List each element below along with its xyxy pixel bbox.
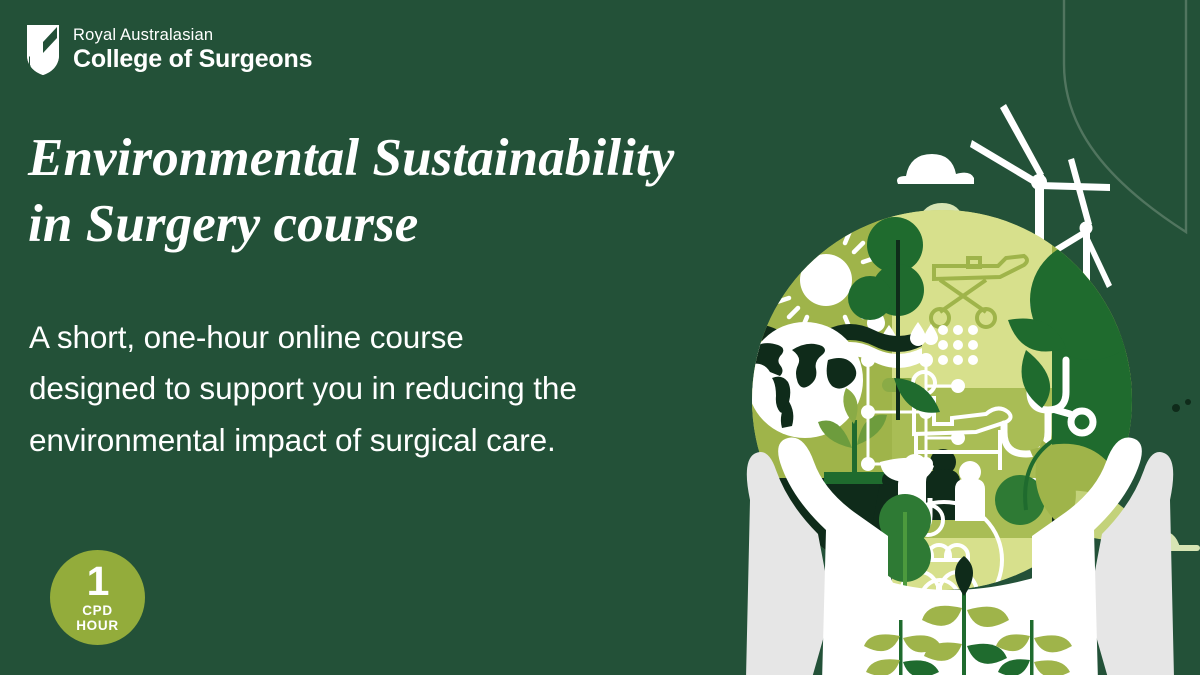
logo-line-1: Royal Australasian [73, 27, 312, 44]
headline-line-2: in Surgery course [28, 192, 788, 258]
tree-icon [848, 276, 892, 320]
headline-line-1: Environmental Sustainability [28, 126, 788, 192]
racs-shield-logo-icon [26, 24, 60, 76]
dot-matrix [938, 325, 978, 365]
body-line-3: environmental impact of surgical care. [29, 415, 719, 466]
page-title: Environmental Sustainability in Surgery … [28, 126, 788, 257]
hands-holding-sustainable-healthcare-globe-illustration [730, 0, 1200, 675]
cpd-number: 1 [87, 564, 109, 599]
cpd-label-line-1: CPD [76, 604, 119, 619]
body-line-2: designed to support you in reducing the [29, 363, 719, 414]
dot-detail [1172, 404, 1180, 412]
cpd-label: CPD HOUR [76, 604, 119, 633]
body-line-1: A short, one-hour online course [29, 312, 719, 363]
cpd-label-line-2: HOUR [76, 619, 119, 634]
dot-detail [1185, 399, 1191, 405]
racs-logo[interactable]: Royal Australasian College of Surgeons [26, 24, 312, 76]
world-map-globe-icon [747, 322, 863, 438]
cloud-icon [897, 154, 974, 184]
description-text: A short, one-hour online course designed… [29, 312, 719, 466]
promotional-banner: Royal Australasian College of Surgeons E… [0, 0, 1200, 675]
logo-line-2: College of Surgeons [73, 45, 312, 73]
cpd-hour-badge: 1 CPD HOUR [50, 550, 145, 645]
